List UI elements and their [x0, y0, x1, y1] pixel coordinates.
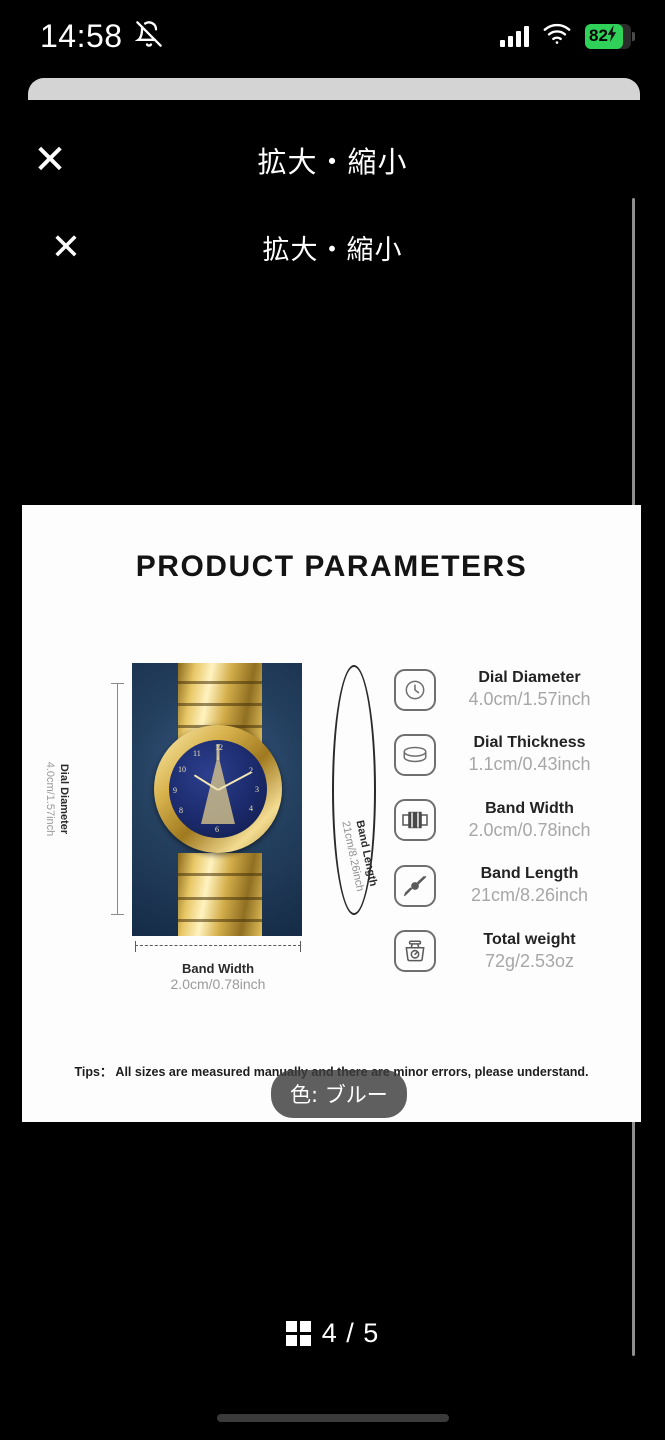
spec-name: Band Length	[450, 864, 609, 884]
spec-row: Total weight 72g/2.53oz	[394, 930, 609, 973]
phone-screen: 14:58	[0, 0, 665, 1440]
spec-list: Dial Diameter 4.0cm/1.57inch Dial Thickn…	[394, 668, 609, 995]
status-bar-clock: 14:58	[40, 18, 123, 55]
watch-photo: 12 11 10 9 8 6 4 3 2	[132, 663, 302, 936]
watch-dial: 12 11 10 9 8 6 4 3 2	[169, 740, 267, 838]
close-icon[interactable]: ✕	[28, 138, 72, 182]
outer-navbar: ✕ 拡大・縮小	[0, 125, 665, 195]
spec-name: Total weight	[450, 930, 609, 950]
watch-dial-icon	[394, 669, 436, 711]
outer-navbar-title: 拡大・縮小	[0, 139, 665, 181]
spec-name: Dial Diameter	[450, 668, 609, 688]
close-icon[interactable]: ✕	[46, 227, 86, 267]
spec-row: Dial Thickness 1.1cm/0.43inch	[394, 733, 609, 776]
spec-row: Dial Diameter 4.0cm/1.57inch	[394, 668, 609, 711]
spec-value: 2.0cm/0.78inch	[450, 819, 609, 842]
inner-navbar-title: 拡大・縮小	[0, 228, 665, 267]
page-indicator[interactable]: 4 / 5	[0, 1318, 665, 1349]
battery-percent: 82	[589, 26, 608, 46]
dial-diameter-measure: Dial Diameter 4.0cm/1.57inch	[81, 683, 127, 915]
watch-case: 12 11 10 9 8 6 4 3 2	[154, 725, 282, 853]
spec-value: 1.1cm/0.43inch	[450, 753, 609, 776]
grid-2x2-icon[interactable]	[286, 1321, 311, 1346]
spec-row: Band Width 2.0cm/0.78inch	[394, 799, 609, 842]
spec-value: 4.0cm/1.57inch	[450, 688, 609, 711]
wifi-icon	[542, 23, 572, 50]
dial-diameter-label: Dial Diameter 4.0cm/1.57inch	[43, 762, 71, 837]
kitchen-scale-icon	[394, 930, 436, 972]
product-parameter-image[interactable]: PRODUCT PARAMETERS	[22, 505, 641, 1122]
inner-navbar: ✕ 拡大・縮小	[0, 212, 665, 282]
status-bar-right: 82	[500, 23, 631, 50]
status-bar-left: 14:58	[40, 18, 163, 55]
spec-value: 72g/2.53oz	[450, 950, 609, 973]
charging-bolt-icon	[607, 25, 618, 47]
status-bar: 14:58	[0, 0, 665, 72]
spec-value: 21cm/8.26inch	[450, 884, 609, 907]
color-badge: 色: ブルー	[271, 1070, 407, 1118]
spec-name: Dial Thickness	[450, 733, 609, 753]
home-indicator[interactable]	[217, 1414, 449, 1422]
band-width-icon	[394, 799, 436, 841]
bell-slash-icon	[135, 20, 163, 53]
page-title: PRODUCT PARAMETERS	[22, 550, 641, 584]
measurement-diagram: 12 11 10 9 8 6 4 3 2 Dial Diameter	[77, 655, 367, 1055]
spec-name: Band Width	[450, 799, 609, 819]
watch-band-lower	[178, 853, 262, 936]
page-counter: 4 / 5	[322, 1318, 380, 1349]
cylinder-icon	[394, 734, 436, 776]
battery-indicator: 82	[585, 24, 631, 49]
band-length-icon	[394, 865, 436, 907]
band-width-measure: Band Width 2.0cm/0.78inch	[135, 945, 301, 992]
cellular-signal-icon	[500, 25, 529, 47]
spec-row: Band Length 21cm/8.26inch	[394, 864, 609, 907]
sheet-drag-handle[interactable]	[28, 78, 640, 100]
